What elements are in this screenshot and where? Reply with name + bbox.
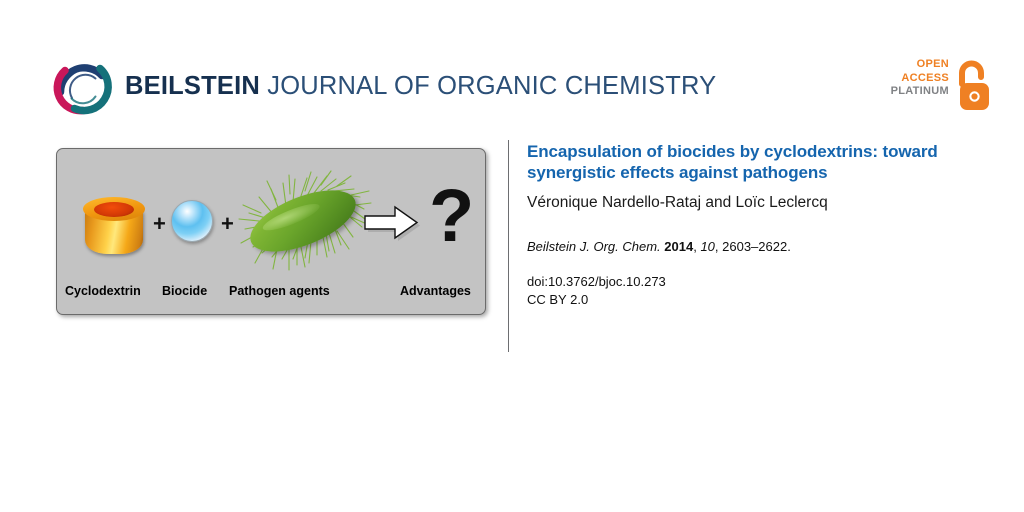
cyclodextrin-cup-icon	[83, 194, 145, 256]
plus-sign-2: +	[221, 211, 234, 237]
plus-sign-1: +	[153, 211, 166, 237]
article-title[interactable]: Encapsulation of biocides by cyclodextri…	[527, 142, 997, 183]
open-access-badge: OPEN ACCESS PLATINUM	[893, 58, 993, 116]
question-mark-icon: ?	[429, 179, 474, 253]
page-header: BEILSTEIN JOURNAL OF ORGANIC CHEMISTRY O…	[0, 0, 1024, 130]
pathogen-bacterium-icon	[233, 167, 373, 287]
vertical-divider	[508, 140, 509, 352]
journal-title: BEILSTEIN JOURNAL OF ORGANIC CHEMISTRY	[125, 72, 716, 101]
right-arrow-icon	[363, 203, 421, 245]
label-advantages: Advantages	[400, 284, 471, 298]
open-access-line-3: PLATINUM	[891, 85, 949, 99]
citation-volume: 10	[700, 239, 714, 254]
beilstein-spiral-logo-icon	[52, 56, 114, 118]
journal-name: JOURNAL OF ORGANIC CHEMISTRY	[260, 72, 716, 100]
open-access-line-1: OPEN	[891, 58, 949, 72]
article-doi[interactable]: doi:10.3762/bjoc.10.273	[527, 273, 997, 291]
label-cyclodextrin: Cyclodextrin	[65, 284, 141, 298]
citation-journal: Beilstein J. Org. Chem.	[527, 239, 661, 254]
label-pathogen: Pathogen agents	[229, 284, 330, 298]
graphical-abstract: + +	[56, 148, 486, 315]
citation-pages: 2603–2622.	[722, 239, 791, 254]
biocide-sphere-icon	[171, 200, 213, 242]
open-padlock-icon	[953, 60, 993, 112]
article-authors: Véronique Nardello-Rataj and Loïc Lecler…	[527, 193, 997, 213]
open-access-line-2: ACCESS	[891, 72, 949, 86]
label-biocide: Biocide	[162, 284, 207, 298]
article-meta: Encapsulation of biocides by cyclodextri…	[527, 142, 997, 309]
citation-year: 2014	[664, 239, 693, 254]
article-citation: Beilstein J. Org. Chem. 2014, 10, 2603–2…	[527, 238, 997, 256]
journal-brand: BEILSTEIN	[125, 72, 260, 100]
article-license[interactable]: CC BY 2.0	[527, 291, 997, 309]
open-access-text: OPEN ACCESS PLATINUM	[891, 58, 949, 99]
